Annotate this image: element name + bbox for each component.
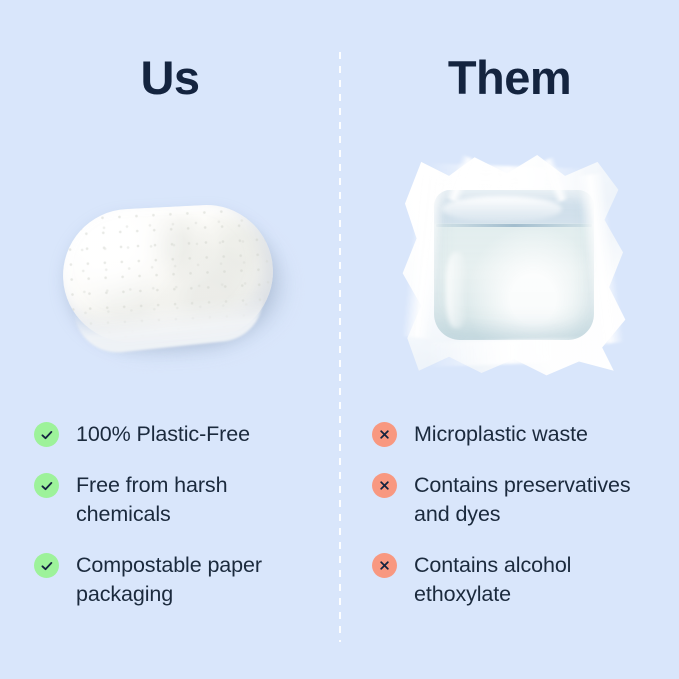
benefits-list-us: 100% Plastic-Free Free from harsh chemic…	[34, 420, 324, 631]
column-divider	[339, 52, 341, 642]
list-item: Free from harsh chemicals	[34, 471, 324, 529]
drawbacks-list-them: Microplastic waste Contains preservative…	[372, 420, 664, 631]
list-item-label: Free from harsh chemicals	[76, 471, 324, 529]
cross-icon	[372, 422, 397, 447]
soap-tablet-body	[60, 202, 277, 346]
heading-them: Them	[340, 50, 679, 106]
cross-icon	[372, 473, 397, 498]
product-image-soap-tablet	[55, 195, 295, 360]
cross-icon	[372, 553, 397, 578]
plastic-pod-highlight-side	[446, 252, 468, 328]
list-item-label: Compostable paper packaging	[76, 551, 324, 609]
list-item: 100% Plastic-Free	[34, 420, 324, 449]
list-item-label: Contains preservatives and dyes	[414, 471, 664, 529]
list-item-label: Contains alcohol ethoxylate	[414, 551, 664, 609]
list-item-label: 100% Plastic-Free	[76, 420, 250, 449]
list-item: Contains preservatives and dyes	[372, 471, 664, 529]
list-item: Compostable paper packaging	[34, 551, 324, 609]
check-icon	[34, 422, 59, 447]
check-icon	[34, 473, 59, 498]
check-icon	[34, 553, 59, 578]
plastic-pod-liquid-line	[436, 224, 592, 227]
list-item: Microplastic waste	[372, 420, 664, 449]
product-image-plastic-pod	[398, 148, 630, 380]
comparison-board: Us Them 100% Plastic-Free	[0, 0, 679, 679]
list-item: Contains alcohol ethoxylate	[372, 551, 664, 609]
heading-us: Us	[0, 50, 340, 106]
list-item-label: Microplastic waste	[414, 420, 588, 449]
